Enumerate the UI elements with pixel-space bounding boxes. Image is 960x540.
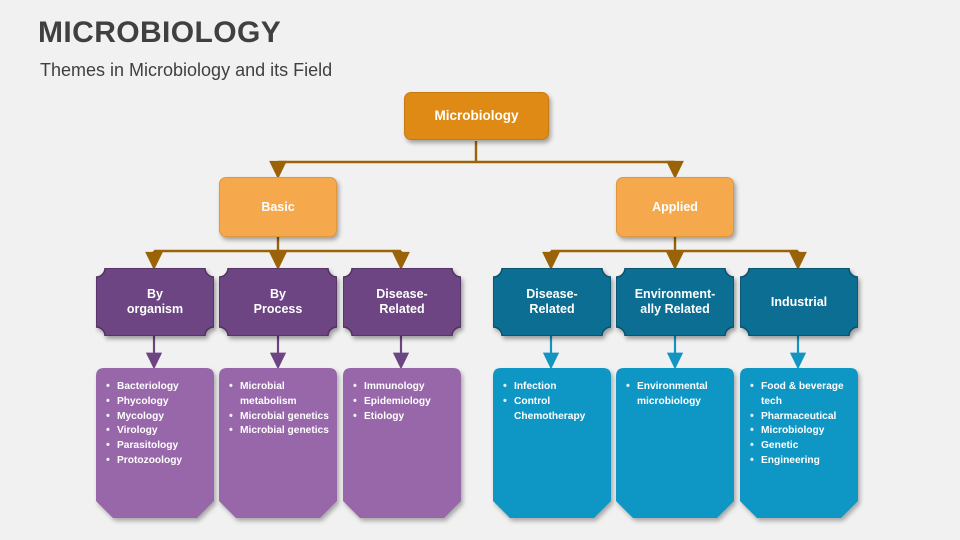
list-box-1[interactable]: •Bacteriology •Phycology •Mycology •Viro… <box>96 368 214 518</box>
node-heading-6[interactable]: Industrial <box>740 268 858 336</box>
bullet-icon: • <box>106 409 110 425</box>
node-heading-3[interactable]: Disease-Related <box>343 268 461 336</box>
node-root-label: Microbiology <box>435 108 519 124</box>
bullet-icon: • <box>106 379 110 395</box>
list-item[interactable]: •Microbial genetics <box>228 424 330 439</box>
list-item[interactable]: •Environmental microbiology <box>625 380 727 410</box>
bullet-icon: • <box>229 379 233 395</box>
node-basic-label: Basic <box>261 200 294 215</box>
node-heading-label-5: Environment-ally Related <box>616 287 734 317</box>
list-item[interactable]: •Virology <box>105 424 207 439</box>
node-heading-label-2: ByProcess <box>219 287 337 317</box>
list-box-6[interactable]: •Food & beverage tech •Pharmaceutical •M… <box>740 368 858 518</box>
bullet-icon: • <box>106 438 110 454</box>
list-item[interactable]: •Parasitology <box>105 439 207 454</box>
bullet-icon: • <box>229 409 233 425</box>
connector-teal-heading-to-list <box>551 336 798 361</box>
list-item[interactable]: •Etiology <box>352 410 454 425</box>
node-heading-label-1: Byorganism <box>96 287 214 317</box>
list-item[interactable]: •Infection <box>502 380 604 395</box>
bullet-icon: • <box>353 394 357 410</box>
list-item[interactable]: •Pharmaceutical <box>749 410 851 425</box>
list-item[interactable]: •Microbial genetics <box>228 410 330 425</box>
bullet-icon: • <box>229 423 233 439</box>
list-items-4: •Infection •Control Chemotherapy <box>493 368 611 424</box>
list-item[interactable]: •Engineering <box>749 454 851 469</box>
node-heading-1[interactable]: Byorganism <box>96 268 214 336</box>
bullet-icon: • <box>503 394 507 410</box>
bullet-icon: • <box>626 379 630 395</box>
connector-root-to-level2 <box>278 141 675 170</box>
list-box-4[interactable]: •Infection •Control Chemotherapy <box>493 368 611 518</box>
bullet-icon: • <box>503 379 507 395</box>
list-box-5[interactable]: •Environmental microbiology <box>616 368 734 518</box>
connector-basic-to-headings <box>154 237 401 261</box>
list-items-6: •Food & beverage tech •Pharmaceutical •M… <box>740 368 858 469</box>
list-items-1: •Bacteriology •Phycology •Mycology •Viro… <box>96 368 214 469</box>
slide-canvas: MICROBIOLOGY Themes in Microbiology and … <box>0 0 960 540</box>
list-box-3[interactable]: •Immunology •Epidemiology •Etiology <box>343 368 461 518</box>
bullet-icon: • <box>353 409 357 425</box>
list-item[interactable]: •Microbiology <box>749 424 851 439</box>
node-heading-label-4: Disease-Related <box>493 287 611 317</box>
bullet-icon: • <box>750 438 754 454</box>
node-heading-4[interactable]: Disease-Related <box>493 268 611 336</box>
list-items-5: •Environmental microbiology <box>616 368 734 410</box>
bullet-icon: • <box>750 453 754 469</box>
list-item[interactable]: •Epidemiology <box>352 395 454 410</box>
bullet-icon: • <box>106 453 110 469</box>
bullet-icon: • <box>750 423 754 439</box>
bullet-icon: • <box>106 394 110 410</box>
bullet-icon: • <box>353 379 357 395</box>
list-item[interactable]: •Mycology <box>105 410 207 425</box>
list-items-3: •Immunology •Epidemiology •Etiology <box>343 368 461 424</box>
node-heading-label-6: Industrial <box>740 295 858 310</box>
connector-applied-to-headings <box>551 237 798 261</box>
node-heading-5[interactable]: Environment-ally Related <box>616 268 734 336</box>
bullet-icon: • <box>750 379 754 395</box>
node-heading-label-3: Disease-Related <box>343 287 461 317</box>
list-items-2: •Microbial metabolism •Microbial genetic… <box>219 368 337 439</box>
connector-purple-heading-to-list <box>154 336 401 361</box>
list-item[interactable]: •Phycology <box>105 395 207 410</box>
node-applied[interactable]: Applied <box>616 177 734 237</box>
list-item[interactable]: •Bacteriology <box>105 380 207 395</box>
node-basic[interactable]: Basic <box>219 177 337 237</box>
list-item[interactable]: •Immunology <box>352 380 454 395</box>
list-item[interactable]: •Food & beverage tech <box>749 380 851 410</box>
list-item[interactable]: •Protozoology <box>105 454 207 469</box>
node-root[interactable]: Microbiology <box>404 92 549 140</box>
node-heading-2[interactable]: ByProcess <box>219 268 337 336</box>
bullet-icon: • <box>106 423 110 439</box>
node-applied-label: Applied <box>652 200 698 215</box>
bullet-icon: • <box>750 409 754 425</box>
list-box-2[interactable]: •Microbial metabolism •Microbial genetic… <box>219 368 337 518</box>
list-item[interactable]: •Genetic <box>749 439 851 454</box>
list-item[interactable]: •Control Chemotherapy <box>502 395 604 425</box>
list-item[interactable]: •Microbial metabolism <box>228 380 330 410</box>
